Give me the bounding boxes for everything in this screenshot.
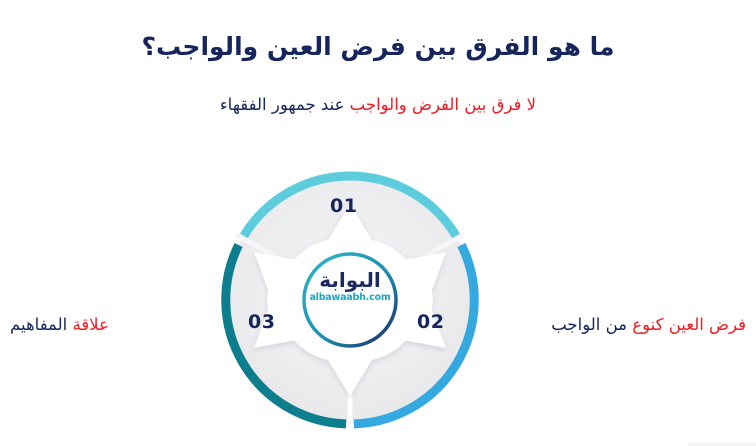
segment-number-01: 01 — [330, 195, 357, 217]
segment-label-02: فرض العين كنوع من الواجب — [496, 312, 746, 338]
segment-label-01-rest: عند جمهور الفقهاء — [220, 95, 345, 114]
logo-ring — [304, 254, 396, 346]
segment-label-01: لا فرق بين الفرض والواجب عند جمهور الفقه… — [0, 92, 756, 118]
segment-label-01-highlight: لا فرق بين الفرض والواجب — [350, 95, 536, 114]
page-edge-decoration — [688, 440, 756, 446]
segment-label-02-highlight: فرض العين كنوع — [632, 315, 746, 334]
segment-label-03: علاقة المفاهيم — [10, 312, 210, 338]
infographic-canvas: ما هو الفرق بين فرض العين والواجب؟ لا فر… — [0, 0, 756, 446]
segment-label-02-rest: من الواجب — [551, 315, 627, 334]
page-title: ما هو الفرق بين فرض العين والواجب؟ — [0, 30, 756, 64]
segment-label-03-highlight: علاقة — [72, 315, 108, 334]
segment-label-03-rest: المفاهيم — [10, 315, 67, 334]
segment-number-02: 02 — [417, 311, 444, 333]
segment-number-03: 03 — [248, 311, 275, 333]
